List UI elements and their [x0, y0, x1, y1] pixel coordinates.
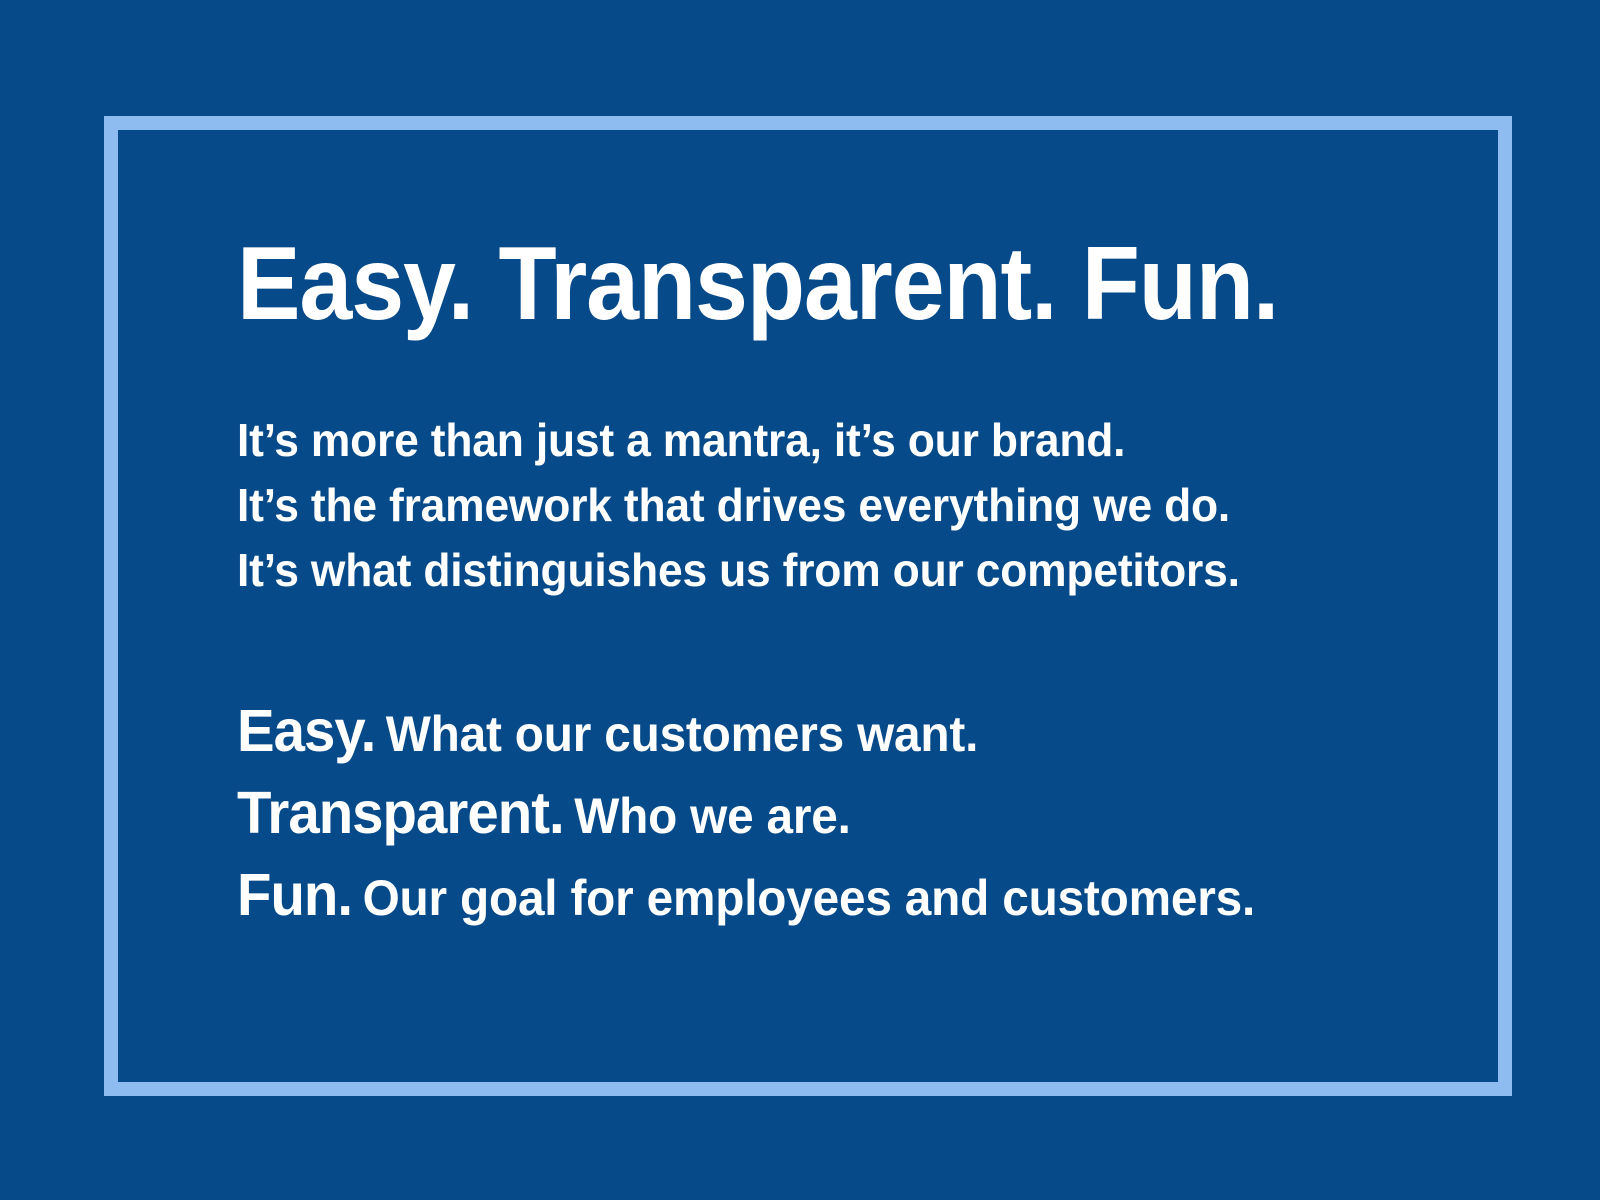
- definition-description-fun: Our goal for employees and customers.: [363, 870, 1255, 926]
- definition-term-easy: Easy.: [237, 698, 375, 764]
- definition-item-transparent: Transparent.Who we are.: [237, 772, 1364, 854]
- intro-line-3: It’s what distinguishes us from our comp…: [237, 538, 1376, 603]
- page-title: Easy. Transparent. Fun.: [237, 232, 1278, 336]
- intro-paragraph: It’s more than just a mantra, it’s our b…: [237, 408, 1417, 603]
- intro-line-2: It’s the framework that drives everythin…: [237, 473, 1376, 538]
- definition-term-fun: Fun.: [237, 862, 352, 928]
- definition-description-easy: What our customers want.: [386, 706, 978, 762]
- definition-term-transparent: Transparent.: [237, 780, 564, 846]
- definition-item-fun: Fun.Our goal for employees and customers…: [237, 854, 1364, 936]
- definition-item-easy: Easy.What our customers want.: [237, 690, 1364, 772]
- brand-mantra-slide: Easy. Transparent. Fun. It’s more than j…: [0, 0, 1600, 1200]
- definition-list: Easy.What our customers want. Transparen…: [237, 690, 1417, 936]
- definition-description-transparent: Who we are.: [574, 788, 851, 844]
- intro-line-1: It’s more than just a mantra, it’s our b…: [237, 408, 1376, 473]
